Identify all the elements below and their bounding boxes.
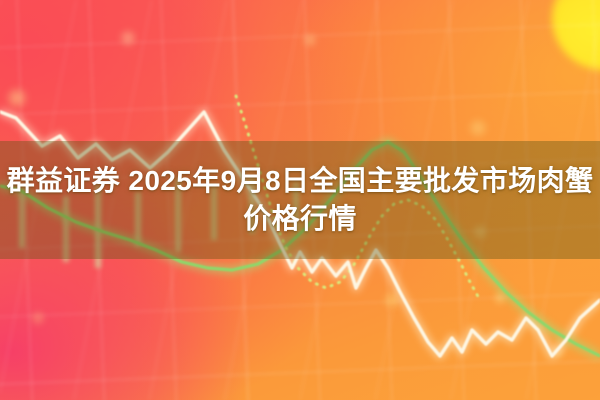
title-line-2: 价格行情 [243,202,357,236]
banner-image: 群益证券 2025年9月8日全国主要批发市场肉蟹 价格行情 [0,0,600,400]
yellow-blob-icon [552,0,600,70]
title-line-1: 群益证券 2025年9月8日全国主要批发市场肉蟹 [7,164,594,198]
title-block: 群益证券 2025年9月8日全国主要批发市场肉蟹 价格行情 [0,141,600,259]
